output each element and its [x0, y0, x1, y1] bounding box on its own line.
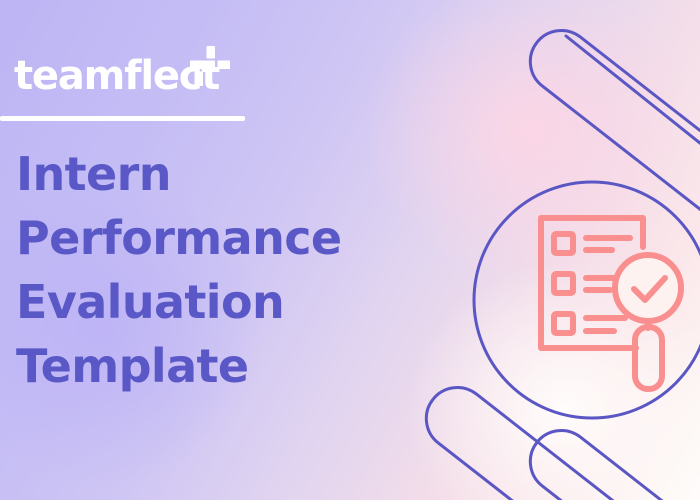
brand-divider: [0, 116, 245, 121]
capsule-bottom-right: [518, 418, 700, 500]
page-title-line-2: Performance: [16, 206, 436, 270]
page-title: Intern Performance Evaluation Template: [16, 142, 436, 398]
checklist-illustration: [541, 218, 681, 389]
page-title-line-3: Evaluation: [16, 270, 436, 334]
page-title-line-1: Intern: [16, 142, 436, 206]
checkbox-square: [554, 314, 573, 333]
brand-logo[interactable]: teamflect: [14, 50, 274, 126]
capsule-bottom-left: [414, 375, 700, 500]
template-cover-banner: teamflect Intern Performance Evaluation …: [0, 0, 700, 500]
checkbox-square: [554, 234, 573, 253]
brand-logo-text: teamflect: [14, 52, 219, 100]
magnifier-handle: [635, 327, 662, 389]
page-title-line-4: Template: [16, 334, 436, 398]
checkbox-square: [554, 274, 573, 293]
teamflect-plus-icon: [190, 46, 230, 86]
